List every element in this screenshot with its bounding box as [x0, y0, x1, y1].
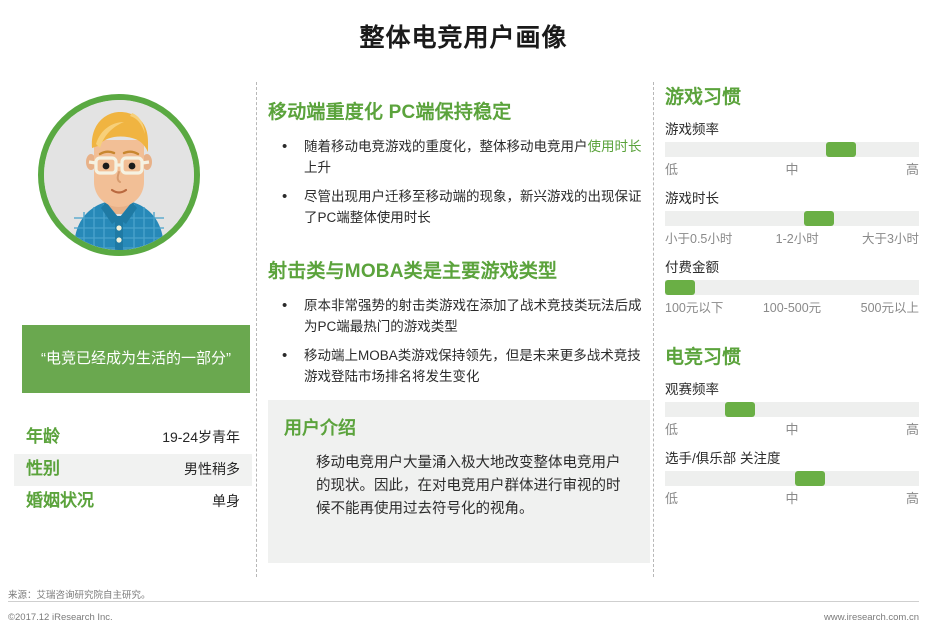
table-row: 性别 男性稍多	[14, 454, 252, 486]
meter-scale: 小于0.5小时 1-2小时 大于3小时	[665, 228, 919, 247]
list-item: 移动端上MOBA类游戏保持领先，但是未来更多战术竞技游戏登陆市场排名将发生变化	[268, 346, 648, 387]
bullet-text-pre: 随着移动电竞游戏的重度化，整体移动电竞用户	[304, 139, 588, 154]
slider-track[interactable]	[665, 280, 919, 295]
list-item: 原本非常强势的射击类游戏在添加了战术竞技类玩法后成为PC端最热门的游戏类型	[268, 296, 648, 337]
scale-tick: 高	[906, 159, 919, 178]
slider-thumb[interactable]	[804, 211, 834, 226]
scale-tick: 中	[785, 159, 798, 178]
bullet-text-highlight: 使用时长	[588, 139, 642, 154]
slider-track[interactable]	[665, 142, 919, 157]
slider-thumb[interactable]	[665, 280, 695, 295]
website-url[interactable]: www.iresearch.com.cn	[824, 612, 919, 623]
scale-tick: 100-500元	[763, 297, 821, 316]
meter-scale: 100元以下 100-500元 500元以上	[665, 297, 919, 316]
source-note: 来源：艾瑞咨询研究院自主研究。	[8, 587, 151, 601]
scale-tick: 大于3小时	[862, 228, 919, 247]
group-heading-gaming: 游戏习惯	[665, 82, 921, 109]
scale-tick: 低	[665, 159, 678, 178]
meter-label: 选手/俱乐部 关注度	[665, 447, 921, 467]
scale-tick: 低	[665, 419, 678, 438]
bullet-text-pre: 尽管出现用户迁移至移动端的现象，新兴游戏的出现保证了PC端整体使用时长	[304, 189, 642, 225]
scale-tick: 1-2小时	[776, 228, 819, 247]
meter-scale: 低 中 高	[665, 419, 919, 438]
meter-label: 观赛频率	[665, 378, 921, 398]
section-heading: 射击类与MOBA类是主要游戏类型	[268, 256, 648, 283]
insight-section-mobile: 移动端重度化 PC端保持稳定 随着移动电竞游戏的重度化，整体移动电竞用户使用时长…	[268, 97, 648, 237]
demographics-table: 年龄 19-24岁青年 性别 男性稍多 婚姻状况 单身	[14, 422, 252, 518]
table-row: 婚姻状况 单身	[14, 486, 252, 518]
scale-tick: 中	[785, 419, 798, 438]
meter-game-frequency: 游戏频率 低 中 高	[665, 118, 921, 178]
demographic-key-marital: 婚姻状况	[26, 486, 94, 511]
group-heading-esports: 电竞习惯	[665, 342, 921, 369]
meter-scale: 低 中 高	[665, 159, 919, 178]
meter-label: 游戏时长	[665, 187, 921, 207]
user-intro-body: 移动电竞用户大量涌入极大地改变整体电竞用户的现状。因此，在对电竞用户群体进行审视…	[316, 452, 634, 521]
demographic-key-age: 年龄	[26, 422, 60, 447]
meter-game-duration: 游戏时长 小于0.5小时 1-2小时 大于3小时	[665, 187, 921, 247]
column-divider-left	[256, 82, 257, 577]
table-row: 年龄 19-24岁青年	[14, 422, 252, 454]
slider-thumb[interactable]	[795, 471, 825, 486]
male-gamer-avatar-icon	[44, 100, 194, 250]
meter-watch-frequency: 观赛频率 低 中 高	[665, 378, 921, 438]
meter-label: 游戏频率	[665, 118, 921, 138]
slider-track[interactable]	[665, 211, 919, 226]
scale-tick: 高	[906, 419, 919, 438]
persona-quote: “电竞已经成为生活的一部分”	[22, 325, 250, 393]
meter-scale: 低 中 高	[665, 488, 919, 507]
scale-tick: 小于0.5小时	[665, 228, 732, 247]
list-item: 随着移动电竞游戏的重度化，整体移动电竞用户使用时长上升	[268, 137, 648, 178]
scale-tick: 高	[906, 488, 919, 507]
user-intro-heading: 用户介绍	[284, 414, 634, 440]
bullet-list: 原本非常强势的射击类游戏在添加了战术竞技类玩法后成为PC端最热门的游戏类型 移动…	[268, 296, 648, 387]
demographic-value-marital: 单身	[212, 491, 240, 511]
habits-column: 游戏习惯 游戏频率 低 中 高 游戏时长 小于0.5小时 1-2小时 大于3小时	[665, 82, 921, 507]
bullet-list: 随着移动电竞游戏的重度化，整体移动电竞用户使用时长上升 尽管出现用户迁移至移动端…	[268, 137, 648, 228]
scale-tick: 低	[665, 488, 678, 507]
persona-column: “电竞已经成为生活的一部分” 年龄 19-24岁青年 性别 男性稍多 婚姻状况 …	[0, 82, 256, 582]
list-item: 尽管出现用户迁移至移动端的现象，新兴游戏的出现保证了PC端整体使用时长	[268, 187, 648, 228]
meter-payment-amount: 付费金额 100元以下 100-500元 500元以上	[665, 256, 921, 316]
scale-tick: 500元以上	[861, 297, 919, 316]
slider-thumb[interactable]	[826, 142, 856, 157]
meter-player-club-attention: 选手/俱乐部 关注度 低 中 高	[665, 447, 921, 507]
user-intro-panel: 用户介绍 移动电竞用户大量涌入极大地改变整体电竞用户的现状。因此，在对电竞用户群…	[268, 400, 650, 563]
demographic-value-gender: 男性稍多	[184, 459, 240, 479]
avatar-ring	[38, 94, 200, 256]
page-title: 整体电竞用户画像	[0, 18, 927, 54]
bullet-text-post: 上升	[304, 160, 331, 175]
section-heading: 移动端重度化 PC端保持稳定	[268, 97, 648, 124]
demographic-value-age: 19-24岁青年	[162, 427, 240, 447]
footer-divider	[8, 601, 919, 602]
meter-label: 付费金额	[665, 256, 921, 276]
copyright-text: ©2017.12 iResearch Inc.	[8, 612, 113, 623]
column-divider-right	[653, 82, 654, 577]
scale-tick: 中	[785, 488, 798, 507]
scale-tick: 100元以下	[665, 297, 723, 316]
bullet-text-pre: 移动端上MOBA类游戏保持领先，但是未来更多战术竞技游戏登陆市场排名将发生变化	[304, 348, 641, 384]
bullet-text-pre: 原本非常强势的射击类游戏在添加了战术竞技类玩法后成为PC端最热门的游戏类型	[304, 298, 642, 334]
slider-track[interactable]	[665, 402, 919, 417]
slider-track[interactable]	[665, 471, 919, 486]
demographic-key-gender: 性别	[26, 454, 60, 479]
insight-section-genres: 射击类与MOBA类是主要游戏类型 原本非常强势的射击类游戏在添加了战术竞技类玩法…	[268, 256, 648, 396]
slider-thumb[interactable]	[725, 402, 755, 417]
infographic-page: 整体电竞用户画像	[0, 0, 927, 631]
avatar	[38, 94, 200, 256]
